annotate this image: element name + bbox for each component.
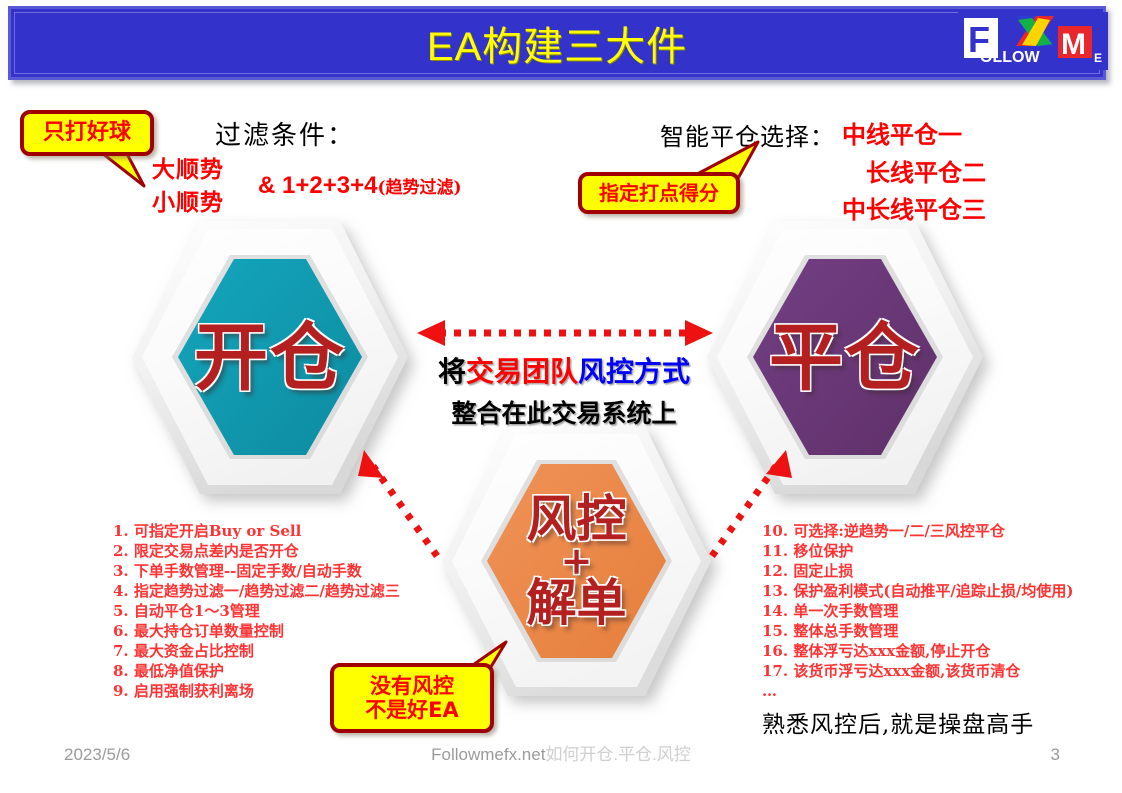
footer-page-number: 3	[1051, 745, 1060, 765]
followme-logo: F M OLLOW E	[958, 12, 1108, 70]
close-option-1: 中线平仓一	[842, 115, 962, 150]
master-note: 熟悉风控后,就是操盘高手	[762, 705, 1034, 739]
callout-no-risk-no-good-ea: 没有风控 不是好EA	[330, 663, 494, 733]
footer-source-cn: 如何开仓.平仓.风控	[545, 745, 690, 764]
center-slogan-part-b: 交易团队	[466, 355, 578, 388]
center-slogan-part-c: 风控方式	[578, 355, 690, 388]
svg-text:OLLOW: OLLOW	[980, 49, 1040, 66]
close-option-2: 长线平仓二	[866, 153, 986, 188]
filter-formula-main: & 1+2+3+4	[258, 172, 377, 199]
slide-canvas: EA构建三大件 F M OLLOW E 只打好球 过滤条件：	[0, 0, 1122, 793]
list-item: 7. 最大资金占比控制	[113, 641, 400, 661]
list-item: …	[762, 681, 1073, 701]
list-item: 13. 保护盈利模式(自动推平/追踪止损/均使用)	[762, 581, 1073, 601]
filter-formula: & 1+2+3+4(趋势过滤)	[258, 172, 462, 200]
header-inner-border: EA构建三大件	[14, 12, 1100, 74]
center-slogan-line1: 将交易团队风控方式	[418, 350, 710, 390]
list-item: 4. 指定趋势过滤一/趋势过滤二/趋势过滤三	[113, 581, 400, 601]
list-item: 17. 该货币浮亏达xxx金额,该货币清仓	[762, 661, 1073, 681]
footer-source-en: Followmefx.net	[431, 745, 545, 764]
page-title: EA构建三大件	[15, 13, 1099, 73]
list-item: 3. 下单手数管理--固定手数/自动手数	[113, 561, 400, 581]
arrow-risk-to-close-icon	[690, 440, 810, 562]
center-slogan: 将交易团队风控方式 整合在此交易系统上	[418, 350, 710, 430]
list-item: 14. 单一次手数管理	[762, 601, 1073, 621]
callout-score: 指定打点得分	[578, 172, 740, 214]
callout-no-risk-line1: 没有风控	[365, 674, 459, 698]
svg-text:E: E	[1094, 51, 1102, 65]
center-slogan-line2: 整合在此交易系统上	[418, 394, 710, 430]
footer-source: Followmefx.net如何开仓.平仓.风控	[0, 740, 1122, 765]
followme-logo-icon: F M OLLOW E	[958, 12, 1108, 70]
double-headed-arrow-icon	[415, 316, 715, 350]
slide-header: EA构建三大件	[8, 6, 1106, 80]
filter-formula-note: (趋势过滤)	[377, 178, 461, 198]
callout-no-risk-line2: 不是好EA	[365, 698, 459, 722]
filter-conditions-label: 过滤条件：	[215, 115, 355, 152]
list-item: 16. 整体浮亏达xxx金额,停止开仓	[762, 641, 1073, 661]
list-item: 15. 整体总手数管理	[762, 621, 1073, 641]
svg-text:M: M	[1061, 28, 1086, 61]
center-slogan-part-a: 将	[438, 355, 466, 388]
arrow-risk-to-open-icon	[340, 440, 460, 562]
list-item: 6. 最大持仓订单数量控制	[113, 621, 400, 641]
callout-only-good-ball: 只打好球	[20, 110, 154, 156]
list-item: 5. 自动平仓1～3管理	[113, 601, 400, 621]
list-item: 12. 固定止损	[762, 561, 1073, 581]
